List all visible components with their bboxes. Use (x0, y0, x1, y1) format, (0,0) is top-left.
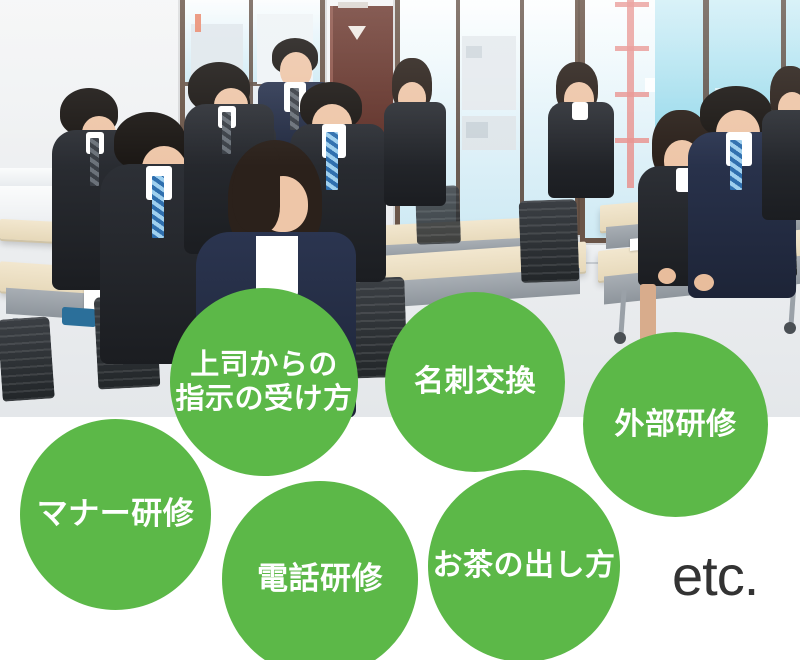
door-triangle-marker-icon (348, 26, 366, 40)
tablet-on-desk (62, 307, 96, 327)
etc-label: etc. (672, 548, 758, 604)
bubble-supervisor-instructions[interactable]: 上司からの 指示の受け方 (170, 288, 358, 476)
desk-caster (614, 332, 626, 344)
bubble-business-card-exchange[interactable]: 名刺交換 (385, 292, 565, 472)
poster-root: 上司からの 指示の受け方 名刺交換 外部研修 マナー研修 電話研修 お茶の出し方… (0, 0, 800, 660)
chair-back-center (519, 199, 580, 283)
bubble-manner-training[interactable]: マナー研修 (20, 419, 211, 610)
door-sign (338, 2, 368, 8)
desk-caster (784, 322, 796, 334)
bubble-external-training[interactable]: 外部研修 (583, 332, 768, 517)
bubble-telephone-training[interactable]: 電話研修 (222, 481, 418, 660)
bubble-serving-tea[interactable]: お茶の出し方 (428, 470, 620, 660)
chair-left-edge (0, 316, 55, 401)
